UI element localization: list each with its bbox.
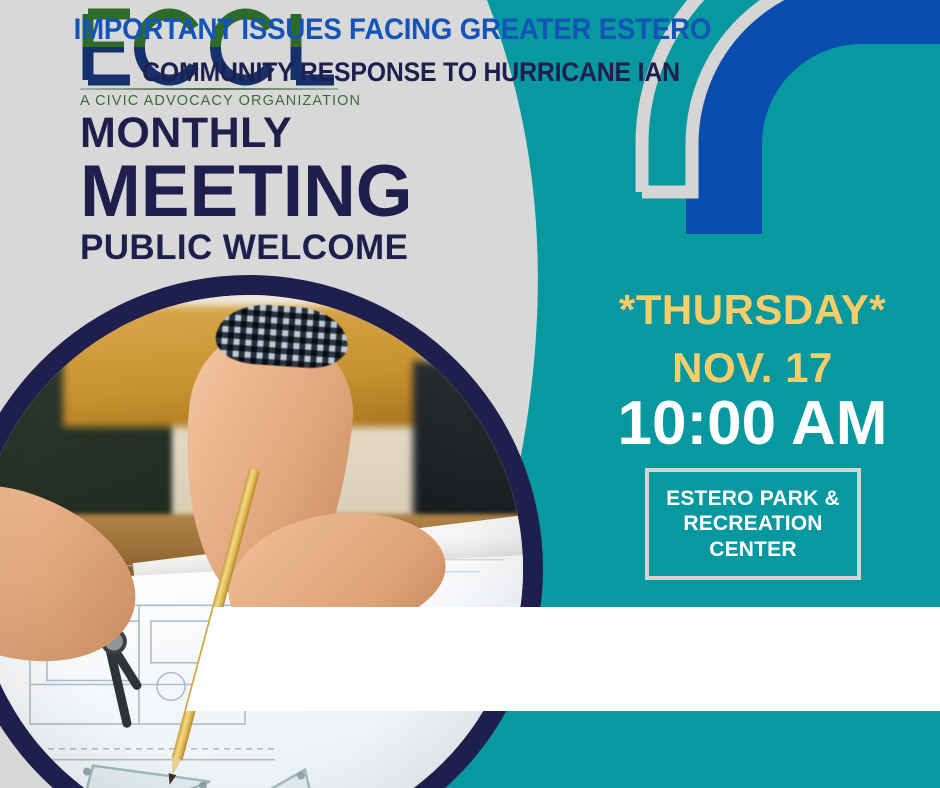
page-title: MONTHLY MEETING PUBLIC WELCOME: [80, 112, 413, 265]
event-time: 10:00 AM: [565, 392, 940, 455]
event-date: NOV. 17: [565, 346, 940, 390]
topics-banner: [186, 607, 940, 711]
title-monthly: MONTHLY: [80, 112, 413, 155]
venue-name: ESTERO PARK & RECREATION CENTER: [660, 486, 846, 563]
event-day: *THURSDAY*: [565, 288, 940, 332]
venue-line-1: ESTERO PARK &: [666, 486, 840, 512]
banner-subheadline: COMMUNITY RESPONSE TO HURRICANE IAN: [112, 57, 710, 88]
banner-headline: IMPORTANT ISSUES FACING GREATER ESTERO: [74, 13, 709, 47]
photo-circle-frame: [0, 275, 543, 788]
meeting-photo: [0, 295, 523, 788]
venue-box: ESTERO PARK & RECREATION CENTER: [645, 468, 861, 580]
event-flyer: A CIVIC ADVOCACY ORGANIZATION MONTHLY ME…: [0, 0, 940, 788]
event-datetime: *THURSDAY* NOV. 17 10:00 AM: [565, 288, 940, 455]
title-meeting: MEETING: [80, 157, 413, 226]
logo-divider: [80, 88, 338, 90]
venue-line-2: RECREATION: [666, 511, 840, 537]
logo-tagline: A CIVIC ADVOCACY ORGANIZATION: [80, 93, 408, 109]
title-public-welcome: PUBLIC WELCOME: [80, 230, 413, 265]
venue-line-3: CENTER: [666, 537, 840, 563]
